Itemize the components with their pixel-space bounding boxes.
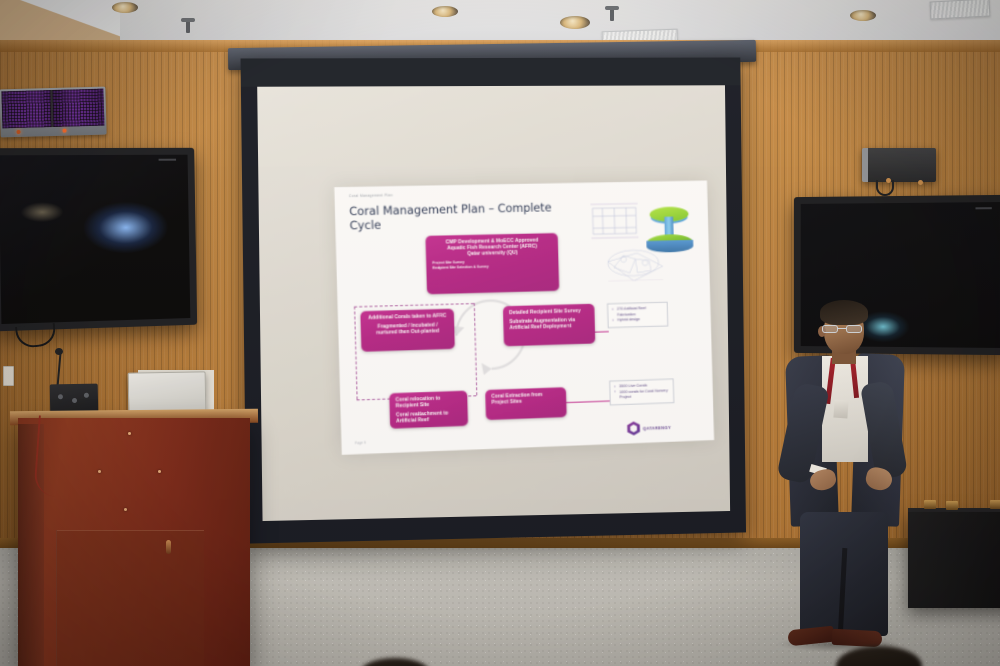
recessed-light — [432, 6, 458, 17]
connector-line — [566, 401, 609, 404]
connector-line — [595, 331, 609, 332]
indicator-light — [16, 130, 20, 134]
connector-dashed-vertical — [354, 306, 358, 399]
callout-list: 3500 Live Corals 1000 corals for Coral N… — [614, 383, 669, 401]
slide-page-number: Page 9 — [355, 441, 366, 445]
callout-item: 1000 corals for Coral Nursery Project — [614, 388, 669, 401]
console-knob[interactable] — [84, 393, 89, 398]
box-line-2: Coral reattachment to Artificial Reef — [396, 410, 462, 425]
cabinet-top-object — [990, 500, 1000, 509]
recessed-light — [850, 10, 876, 21]
process-box-coral-relocation: Coral relocation to Recipient Site Coral… — [389, 391, 468, 429]
speaker-mount-bolt — [918, 180, 923, 185]
glasses-bridge — [838, 328, 846, 329]
presentation-room-photo: Coral Management Plan Coral Management P… — [0, 0, 1000, 666]
process-box-coral-extraction: Coral Extraction from Project Sites — [485, 387, 567, 420]
presenter — [770, 300, 950, 666]
process-box-detailed-survey: Detailed Recipient Site Survey Substrate… — [503, 304, 595, 347]
projection-screen: Coral Management Plan Coral Management P… — [241, 57, 747, 543]
callout-item: Hybrid design — [612, 317, 663, 324]
podium-stud — [124, 508, 127, 511]
logo-text: QATARENGY — [643, 425, 671, 431]
indicator-light — [62, 129, 66, 133]
process-box-additional-corals: Additional Corals taken to AFRC Fragment… — [360, 309, 455, 352]
projected-slide-area: Coral Management Plan Coral Management P… — [257, 85, 730, 521]
hair — [820, 300, 868, 325]
console-knob[interactable] — [72, 398, 77, 403]
callout-list: 270 Artificial Reef Fabrication Hybrid d… — [612, 306, 663, 324]
podium-front-panel — [56, 530, 204, 666]
lens-left — [822, 325, 838, 333]
hexagon-logo-icon — [627, 421, 640, 435]
process-box-cmp-approval: CMP Development & MoECC Approved Aquatic… — [425, 233, 559, 294]
box-line-1: Detailed Recipient Site Survey — [509, 308, 589, 316]
shoe-right — [832, 629, 883, 648]
air-vent — [930, 0, 991, 20]
box-line-1: Coral Extraction from Project Sites — [491, 391, 560, 406]
tv-screen-glass — [0, 155, 190, 324]
callout-artificial-reef: 270 Artificial Reef Fabrication Hybrid d… — [607, 302, 668, 328]
podium-stud — [98, 470, 101, 473]
sprinkler-head — [610, 8, 614, 21]
slide-eyebrow: Coral Management Plan — [349, 193, 393, 198]
lens-right — [846, 325, 862, 333]
box-line-2: Fragmented / Incubated / nurtured then O… — [367, 321, 449, 336]
led-message-board — [0, 87, 107, 138]
tv-brand-badge — [975, 207, 991, 209]
box-line-1: Coral relocation to Recipient Site — [395, 395, 461, 410]
box-line-2: Substrate Augmentation via Artificial Re… — [509, 316, 589, 330]
box-line-1: Additional Corals taken to AFRC — [367, 313, 448, 321]
sprinkler-head — [186, 20, 190, 33]
podium-stud — [128, 432, 131, 435]
wall-outlet-plate — [3, 366, 14, 386]
tv-brand-badge — [159, 159, 176, 161]
podium-stud — [158, 470, 161, 473]
podium-lock[interactable] — [166, 540, 171, 554]
callout-live-corals: 3500 Live Corals 1000 corals for Coral N… — [609, 379, 674, 406]
slide-logo: QATARENGY — [627, 420, 671, 436]
left-wall-tv[interactable] — [0, 148, 197, 332]
wall-speaker — [862, 148, 936, 182]
recessed-light — [560, 16, 590, 29]
slide-title: Coral Management Plan – Complete Cycle — [349, 201, 561, 233]
screen-masking — [241, 57, 741, 86]
presentation-slide: Coral Management Plan Coral Management P… — [334, 181, 714, 455]
id-badge — [833, 400, 848, 419]
recessed-light — [112, 2, 138, 13]
eyeglasses — [822, 325, 866, 333]
console-knob[interactable] — [58, 394, 63, 399]
cad-artwork — [588, 194, 704, 303]
